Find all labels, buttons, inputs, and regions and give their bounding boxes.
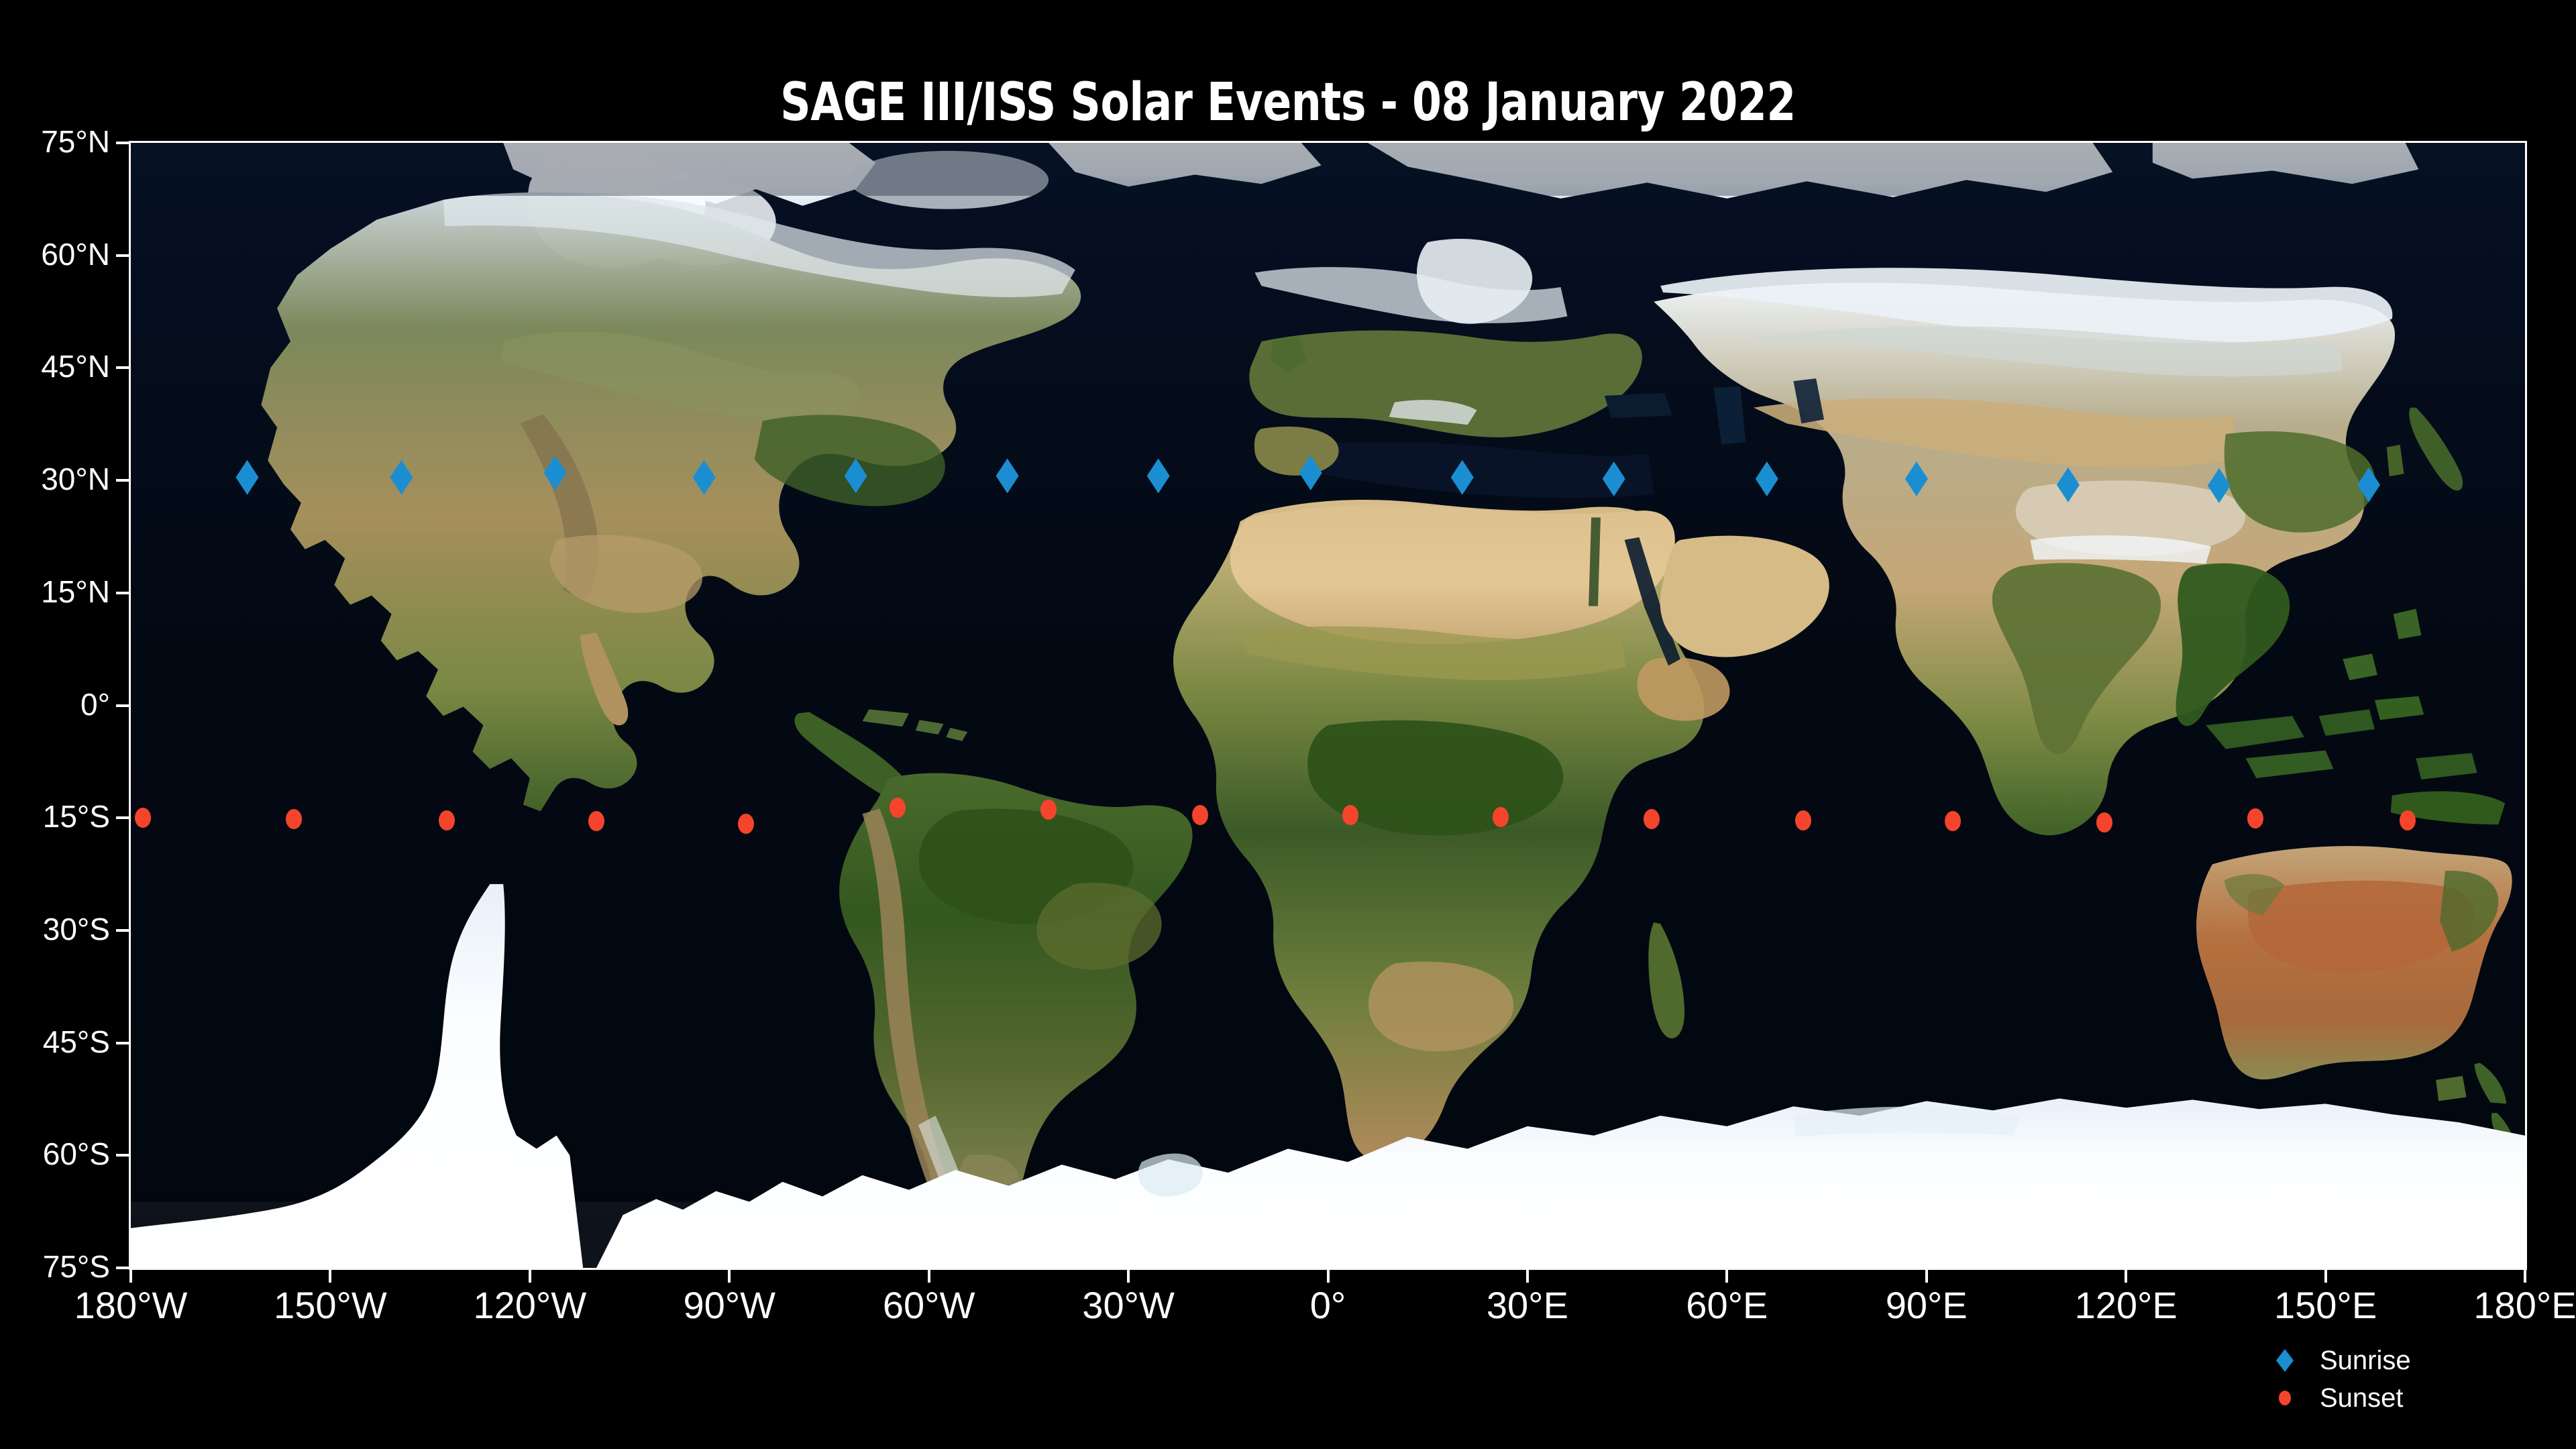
y-tick [116, 816, 131, 819]
y-axis-label: 45°N [41, 351, 110, 382]
x-axis-label: 120°E [2075, 1287, 2178, 1324]
y-tick [116, 1267, 131, 1269]
y-axis-label: 15°N [41, 576, 110, 607]
y-tick [116, 479, 131, 482]
y-axis-label: 45°S [43, 1026, 110, 1057]
y-axis-label: 0° [80, 689, 110, 720]
x-axis-label: 60°W [883, 1287, 975, 1324]
x-tick [2524, 1268, 2526, 1283]
x-axis-label: 150°E [2274, 1287, 2377, 1324]
x-tick [529, 1268, 531, 1283]
x-tick [129, 1268, 132, 1283]
x-tick [2125, 1268, 2127, 1283]
x-tick [728, 1268, 731, 1283]
map-plot-area[interactable] [131, 143, 2525, 1268]
world-basemap [131, 143, 2525, 1268]
y-axis-label: 30°S [43, 914, 110, 945]
x-tick [1327, 1268, 1330, 1283]
y-tick [116, 592, 131, 594]
y-tick [116, 1042, 131, 1044]
legend-label-sunrise: Sunrise [2320, 1346, 2411, 1376]
legend-item-sunset[interactable]: Sunset [2265, 1379, 2546, 1417]
sunset-circle-icon [2265, 1391, 2305, 1405]
x-axis-label: 60°E [1686, 1287, 1768, 1324]
x-tick [928, 1268, 930, 1283]
sunrise-diamond-icon [2265, 1349, 2305, 1372]
x-axis-label: 180°W [74, 1287, 188, 1324]
x-tick [1725, 1268, 1728, 1283]
x-tick [1925, 1268, 1928, 1283]
y-axis-label: 60°S [43, 1138, 110, 1169]
x-axis-label: 150°W [274, 1287, 387, 1324]
page-title: SAGE III/ISS Solar Events - 08 January 2… [129, 72, 2447, 133]
y-tick [116, 142, 131, 144]
x-tick [1526, 1268, 1529, 1283]
x-axis-label: 180°E [2473, 1287, 2576, 1324]
y-tick [116, 1154, 131, 1157]
legend-item-sunrise[interactable]: Sunrise [2265, 1342, 2546, 1379]
x-tick [1127, 1268, 1130, 1283]
y-axis-label: 75°N [41, 126, 110, 157]
x-axis-label: 30°W [1082, 1287, 1175, 1324]
y-axis-label: 30°N [41, 464, 110, 494]
x-axis-label: 90°W [683, 1287, 775, 1324]
x-axis-label: 0° [1310, 1287, 1346, 1324]
legend-label-sunset: Sunset [2320, 1383, 2404, 1413]
y-axis-label: 60°N [41, 239, 110, 270]
x-axis-label: 90°E [1886, 1287, 1968, 1324]
y-axis-label: 15°S [43, 801, 110, 832]
legend[interactable]: Sunrise Sunset [2265, 1342, 2546, 1417]
y-tick [116, 929, 131, 932]
y-tick [116, 366, 131, 369]
x-axis-label: 30°E [1487, 1287, 1568, 1324]
x-tick [2324, 1268, 2327, 1283]
x-tick [329, 1268, 331, 1283]
figure-canvas: SAGE III/ISS Solar Events - 08 January 2… [0, 0, 2576, 1449]
y-axis-label: 75°S [43, 1251, 110, 1282]
x-axis-label: 120°W [473, 1287, 586, 1324]
y-tick [116, 254, 131, 257]
y-tick [116, 704, 131, 707]
